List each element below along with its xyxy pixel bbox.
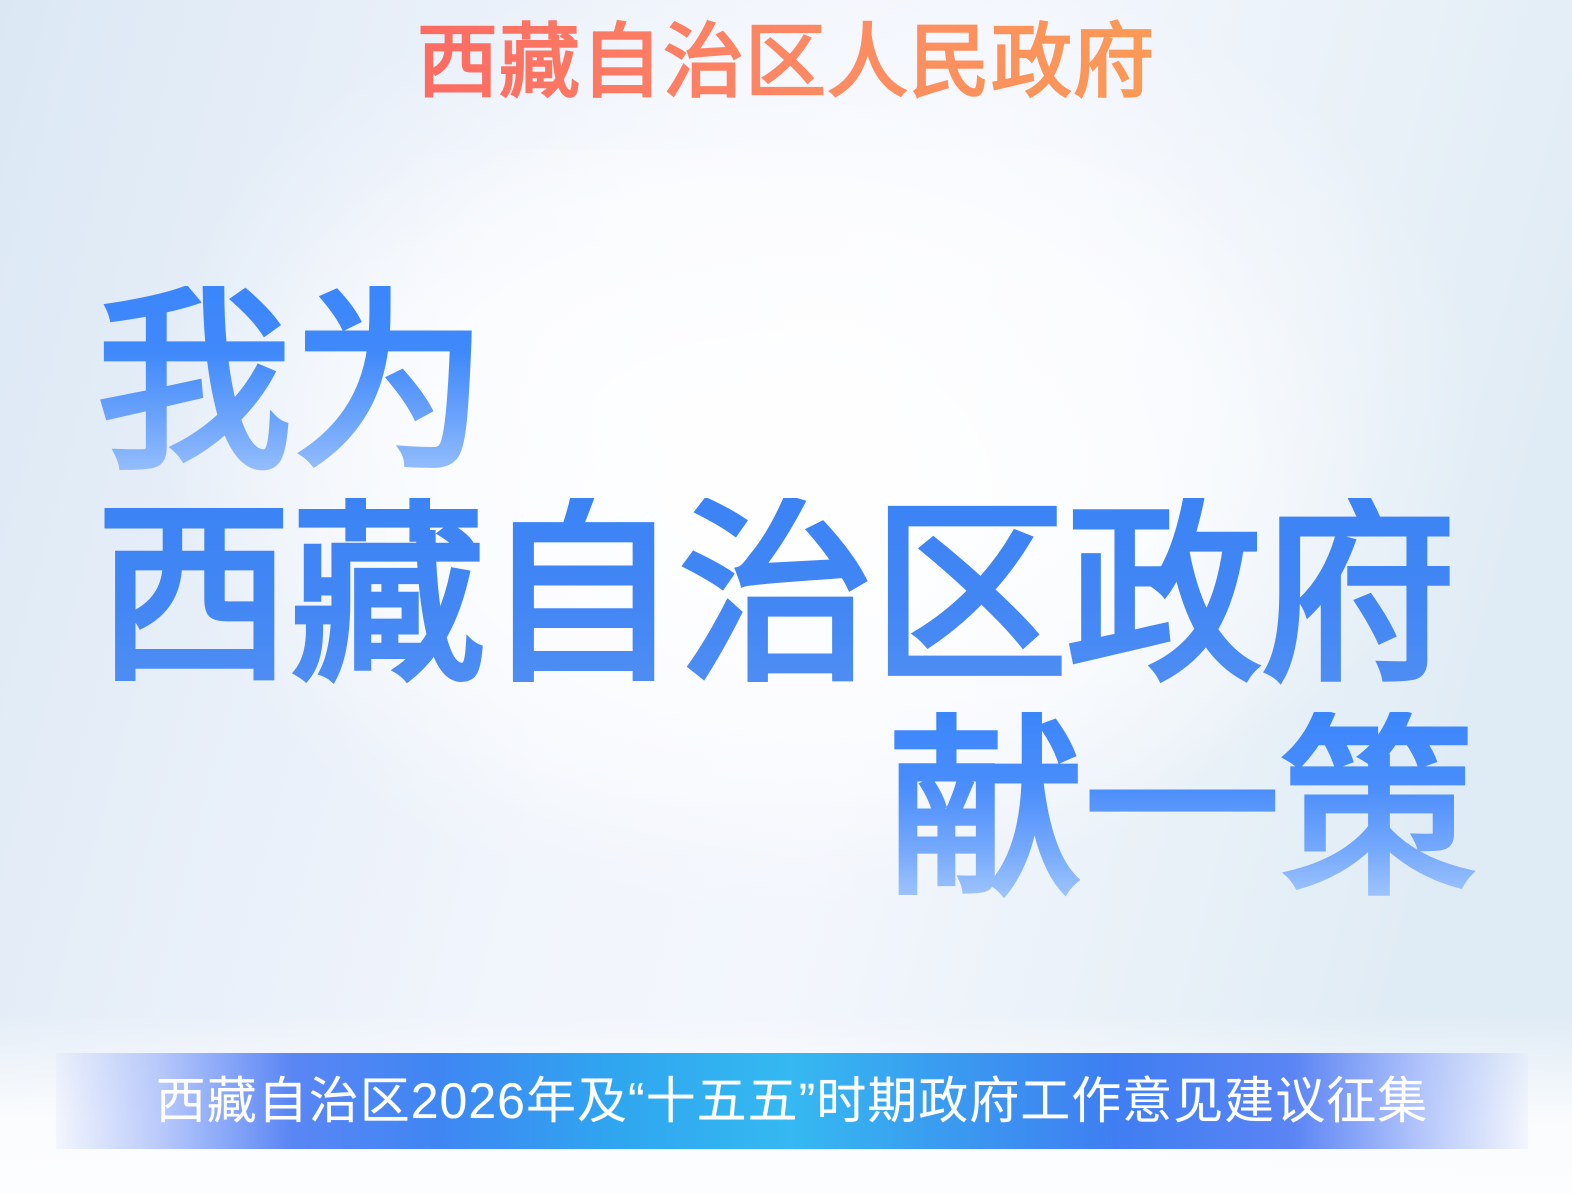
headline-line-2: 西藏自治区政府 <box>96 498 1476 694</box>
organization-title: 西藏自治区人民政府 <box>0 16 1572 112</box>
campaign-banner: 西藏自治区2026年及“十五五”时期政府工作意见建议征集 <box>56 1053 1528 1149</box>
poster-canvas: 西藏自治区人民政府 我为 西藏自治区政府 献一策 西藏自治区2026年及“十五五… <box>0 0 1572 1194</box>
campaign-banner-text: 西藏自治区2026年及“十五五”时期政府工作意见建议征集 <box>156 1076 1429 1126</box>
headline-line-3: 献一策 <box>96 712 1476 908</box>
headline-block: 我为 西藏自治区政府 献一策 <box>96 286 1476 908</box>
headline-line-1: 我为 <box>96 286 1476 482</box>
